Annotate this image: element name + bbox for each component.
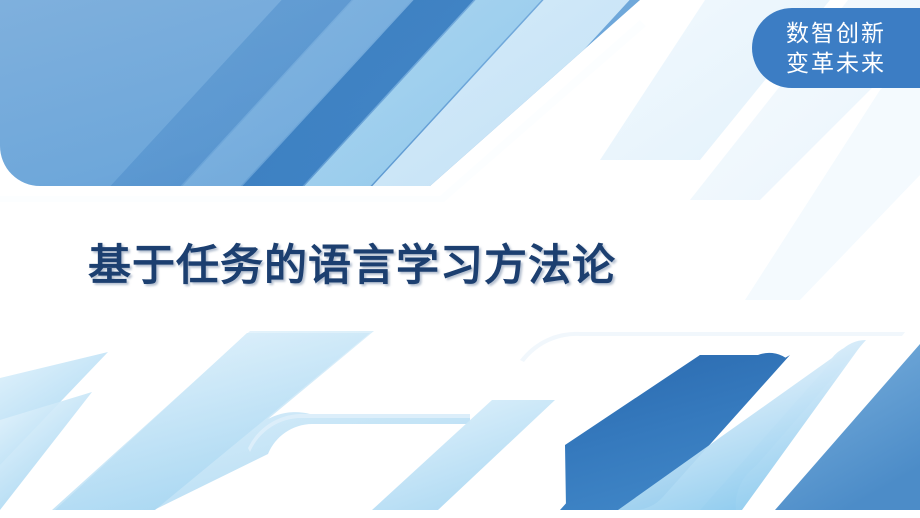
slide-title: 基于任务的语言学习方法论	[88, 231, 616, 293]
bottom-left-diagonal-stripes	[0, 330, 470, 510]
top-left-rounded-panel	[0, 0, 648, 230]
badge-line-1: 数智创新	[786, 18, 886, 48]
badge-line-2: 变革未来	[786, 48, 886, 78]
corner-badge: 数智创新 变革未来	[752, 8, 920, 88]
presentation-slide: 数智创新 变革未来 基于任务的语言学习方法论	[0, 0, 920, 518]
